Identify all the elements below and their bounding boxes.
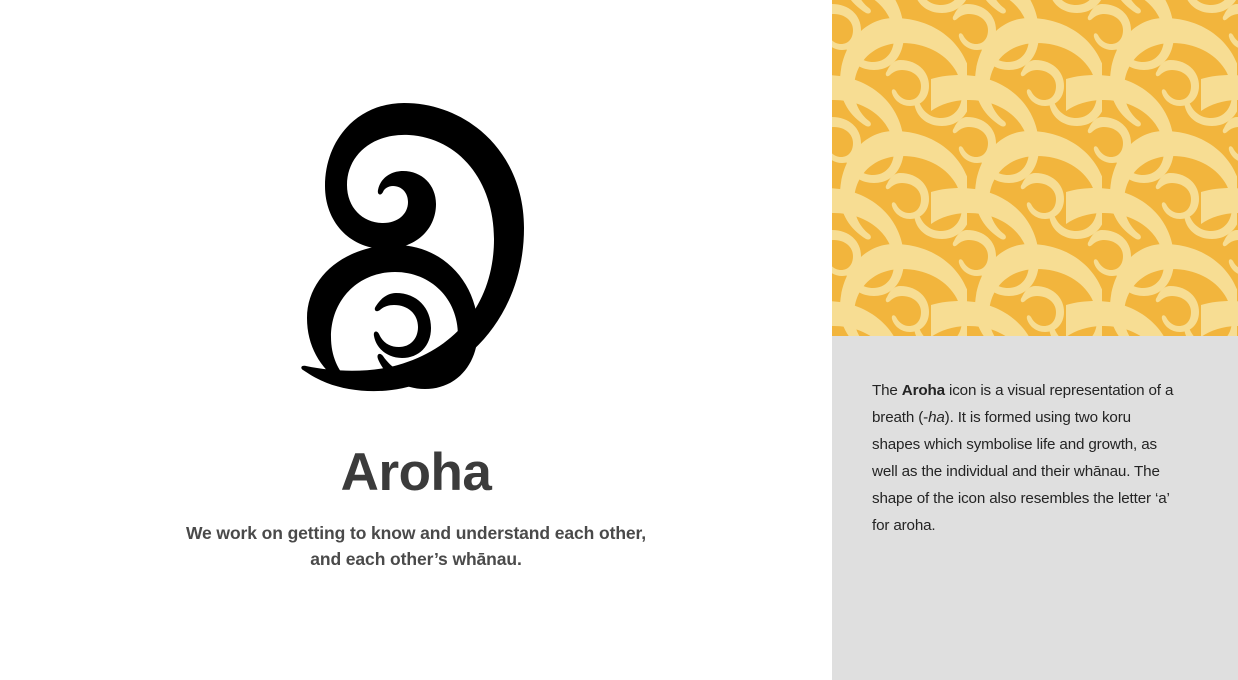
page-title: Aroha bbox=[0, 444, 832, 501]
page-subtitle: We work on getting to know and understan… bbox=[181, 521, 651, 572]
aroha-koru-icon bbox=[295, 97, 538, 393]
left-panel: Aroha We work on getting to know and und… bbox=[0, 0, 832, 680]
info-card: The Aroha icon is a visual representatio… bbox=[832, 336, 1238, 680]
right-panel: The Aroha icon is a visual representatio… bbox=[832, 0, 1238, 680]
info-card-paragraph: The Aroha icon is a visual representatio… bbox=[872, 377, 1182, 539]
koru-pattern-band bbox=[832, 0, 1238, 336]
title-block: Aroha We work on getting to know and und… bbox=[0, 444, 832, 572]
page-root: Aroha We work on getting to know and und… bbox=[0, 0, 1238, 680]
icon-stage bbox=[0, 90, 832, 400]
koru-pattern-svg bbox=[832, 0, 1238, 336]
